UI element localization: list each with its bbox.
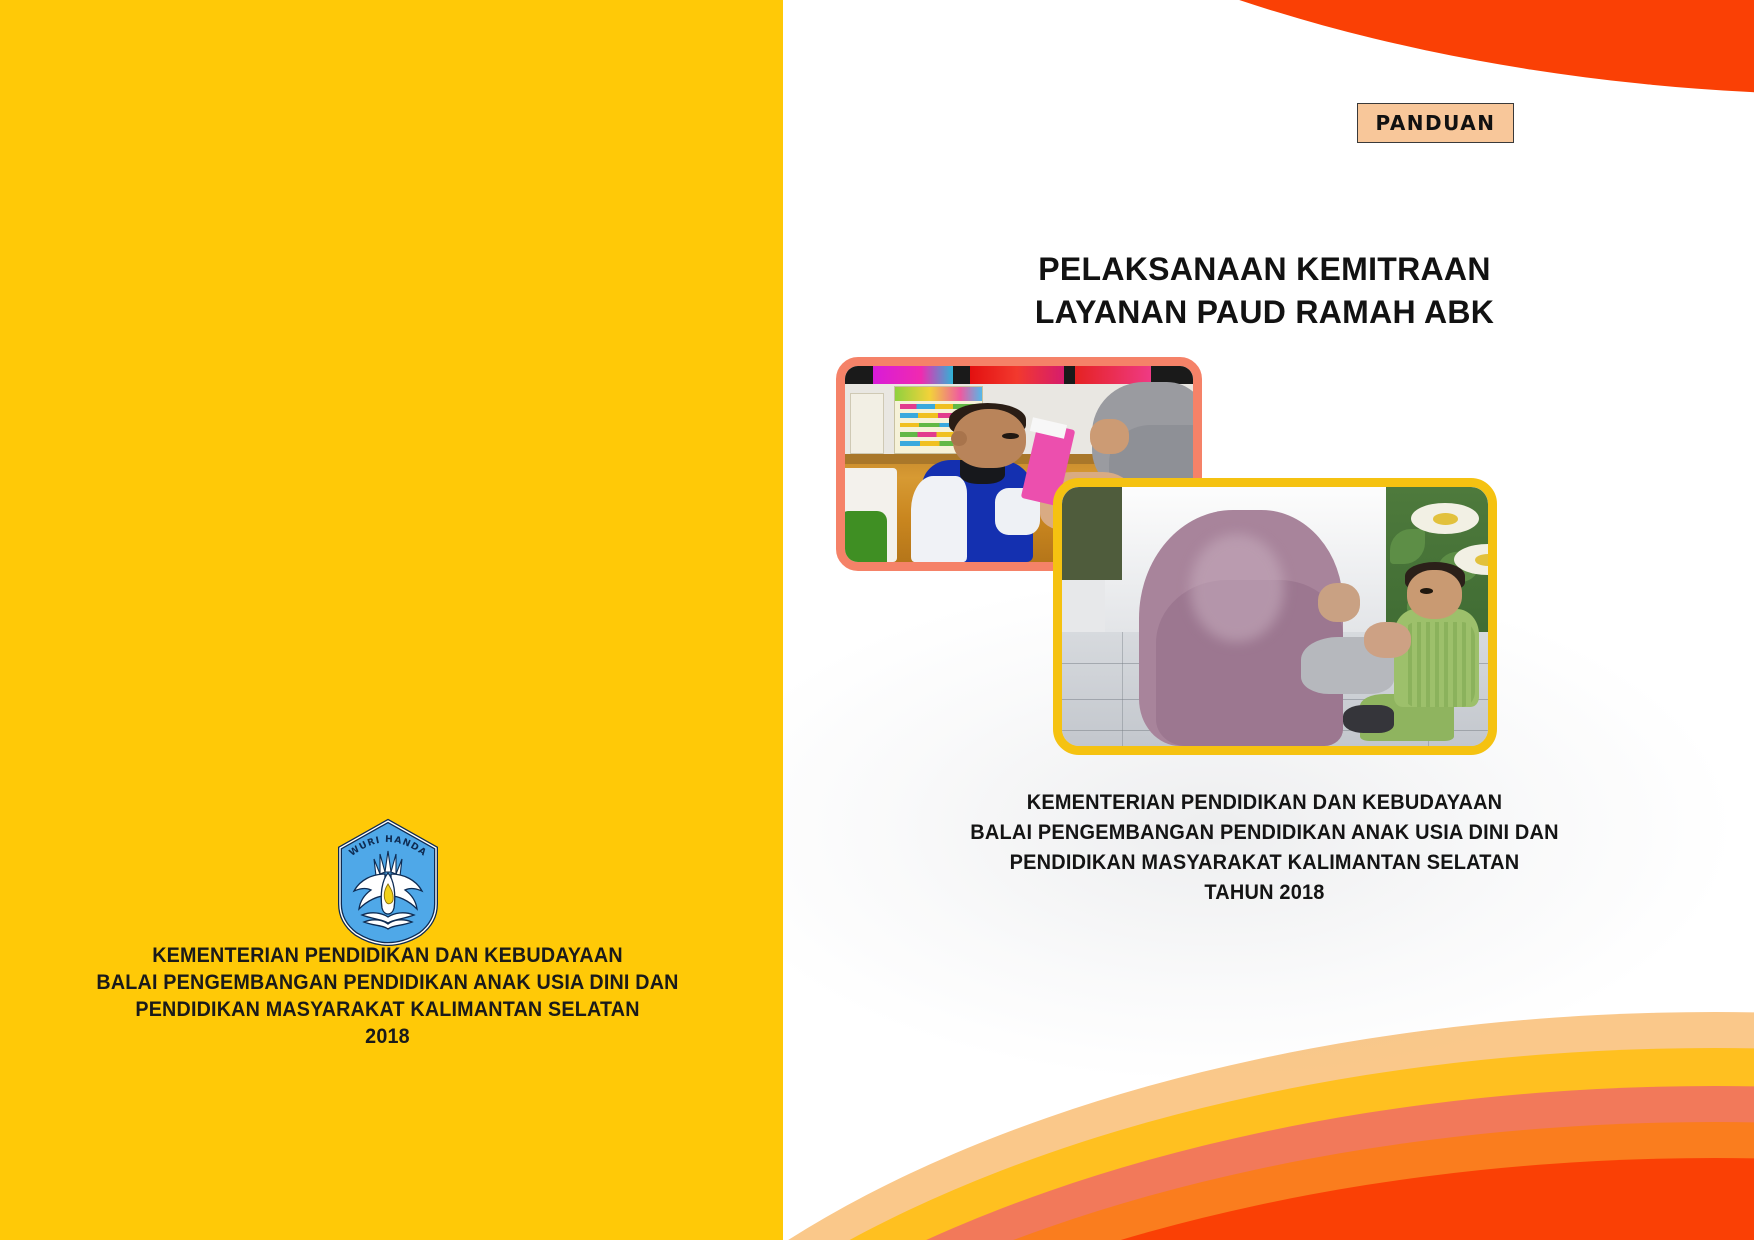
photo2-tile-line	[1122, 632, 1123, 746]
photo1-teacher-face	[1090, 419, 1128, 454]
back-cover-panel: TUT WURI HANDAYANI KEMENTERIAN PENDIDIKA…	[0, 0, 775, 1240]
photo1-poster-header	[895, 387, 982, 402]
photo1-banner-mid	[970, 366, 1064, 384]
photo2-leaf	[1390, 529, 1425, 564]
photo1-banner-left	[873, 366, 953, 384]
cover-title: PELAKSANAAN KEMITRAAN LAYANAN PAUD RAMAH…	[775, 248, 1754, 334]
photo1-side-poster	[850, 393, 883, 454]
front-cover-publisher: KEMENTERIAN PENDIDIKAN DAN KEBUDAYAAN BA…	[799, 788, 1729, 908]
photo2-teacher-face	[1318, 583, 1361, 622]
book-cover: TUT WURI HANDAYANI KEMENTERIAN PENDIDIKA…	[0, 0, 1754, 1240]
photo2-teacher-hand	[1364, 622, 1411, 658]
panduan-badge: PANDUAN	[1357, 103, 1514, 143]
back-cover-publisher: KEMENTERIAN PENDIDIKAN DAN KEBUDAYAAN BA…	[23, 942, 752, 1050]
spine-strip	[775, 0, 783, 1240]
photo-teacher-and-boy-on-floor	[1053, 478, 1497, 755]
tut-wuri-handayani-logo: TUT WURI HANDAYANI	[328, 818, 448, 946]
photo1-banner-right	[1075, 366, 1152, 384]
photo2-boy-shirt-pattern	[1403, 622, 1475, 707]
photo2-wall-dark-corner	[1062, 487, 1122, 580]
photo1-green-object	[845, 511, 887, 562]
photo2-boy-eye	[1420, 588, 1433, 594]
photo2-flower-center	[1433, 513, 1459, 525]
photo2-shoe	[1343, 705, 1394, 733]
photo1-boy-arm	[911, 476, 967, 562]
photo2-hijab-highlight	[1190, 534, 1284, 643]
photo2-boy-face	[1407, 570, 1462, 619]
photo1-boy-ear	[951, 431, 967, 447]
wave-band-red-top	[775, 0, 1754, 95]
